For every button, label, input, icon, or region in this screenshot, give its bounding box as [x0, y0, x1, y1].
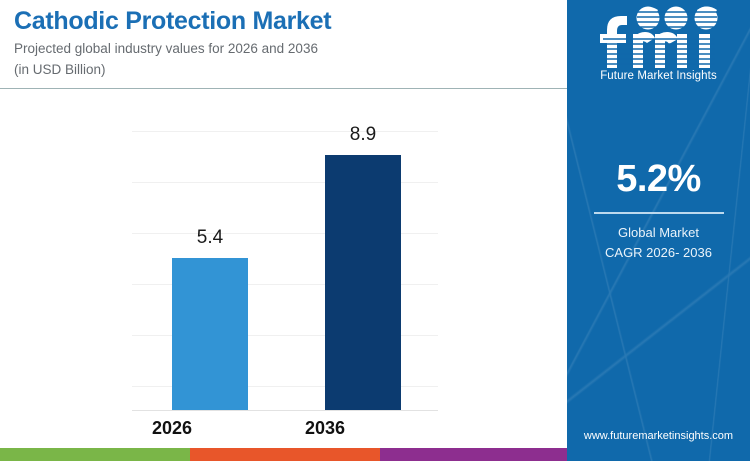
- infographic-root: Cathodic Protection Market Projected glo…: [0, 0, 750, 461]
- bar-fill-2036: [325, 155, 401, 410]
- cagr-block: 5.2% Global Market CAGR 2026- 2036: [567, 157, 750, 263]
- category-label-2026: 2026: [112, 418, 232, 439]
- subtitle-line-1: Projected global industry values for 202…: [14, 39, 559, 58]
- website-url[interactable]: www.futuremarketinsights.com: [567, 430, 750, 442]
- gridline: [132, 131, 438, 132]
- brand-logo[interactable]: Future Market Insights: [567, 6, 750, 82]
- cagr-caption-line-1: Global Market: [567, 223, 750, 243]
- strip-segment-purple: [380, 448, 567, 461]
- bar-value-2036: 8.9: [350, 124, 376, 146]
- cagr-value: 5.2%: [567, 157, 750, 201]
- side-panel: Future Market Insights 5.2% Global Marke…: [567, 0, 750, 461]
- header-divider: [0, 88, 567, 89]
- bar-chart: 5.4 8.9 2026 2036: [0, 96, 567, 448]
- bar-2026[interactable]: 5.4: [172, 258, 248, 410]
- header: Cathodic Protection Market Projected glo…: [14, 6, 559, 79]
- strip-segment-green: [0, 448, 190, 461]
- cagr-caption-line-2: CAGR 2026- 2036: [567, 243, 750, 263]
- category-label-2036: 2036: [265, 418, 385, 439]
- bar-2036[interactable]: 8.9: [325, 155, 401, 410]
- logo-tagline: Future Market Insights: [567, 70, 750, 82]
- main-content-area: Cathodic Protection Market Projected glo…: [0, 0, 567, 448]
- strip-segment-orange: [190, 448, 380, 461]
- bar-value-2026: 5.4: [197, 227, 223, 249]
- bottom-color-strip: [0, 448, 567, 461]
- bar-fill-2026: [172, 258, 248, 410]
- subtitle-line-2: (in USD Billion): [14, 60, 559, 79]
- cagr-divider: [594, 212, 724, 214]
- plot-area: 5.4 8.9: [132, 131, 438, 411]
- page-title: Cathodic Protection Market: [14, 6, 559, 36]
- fmi-logo-icon: [593, 6, 725, 68]
- x-axis-line: [132, 410, 438, 411]
